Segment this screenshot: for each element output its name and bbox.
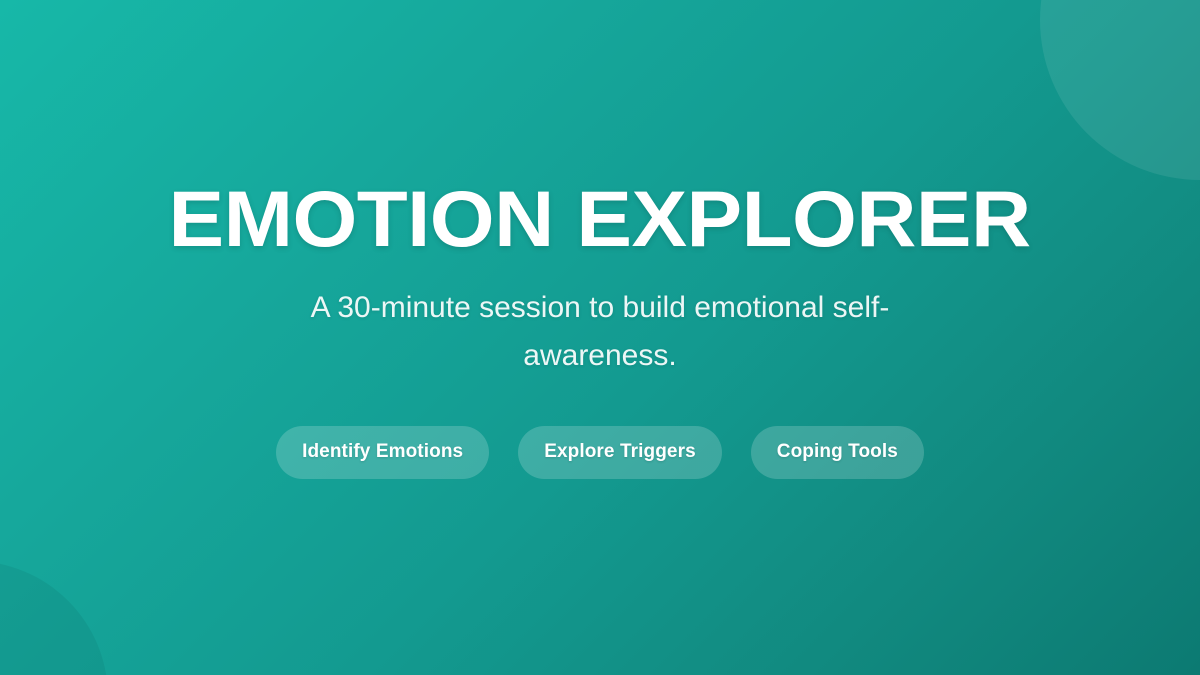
page-title: Emotion Explorer <box>169 178 1031 259</box>
pill-coping-tools[interactable]: Coping Tools <box>751 426 924 479</box>
slide-content: Emotion Explorer A 30-minute session to … <box>0 0 1200 675</box>
topic-pill-group: Identify Emotions Explore Triggers Copin… <box>276 426 924 479</box>
pill-identify-emotions[interactable]: Identify Emotions <box>276 426 489 479</box>
page-subtitle: A 30-minute session to build emotional s… <box>280 284 920 380</box>
title-slide: Emotion Explorer A 30-minute session to … <box>0 0 1200 675</box>
pill-explore-triggers[interactable]: Explore Triggers <box>518 426 722 479</box>
